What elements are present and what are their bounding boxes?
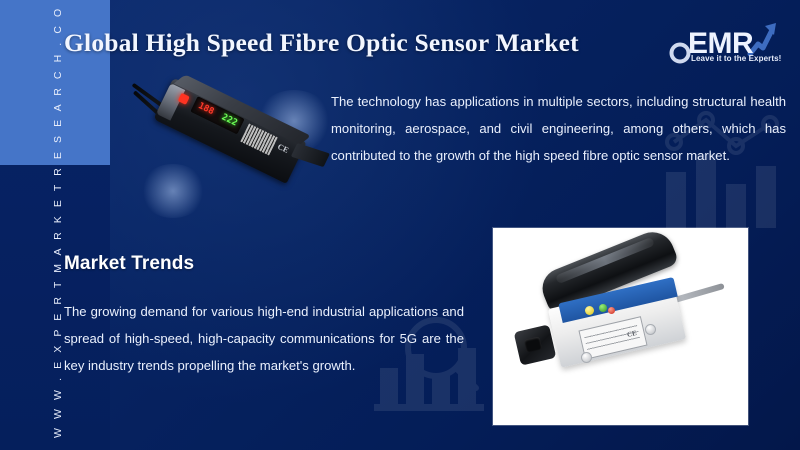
section-heading: Market Trends — [64, 253, 194, 275]
sensor-mounting-screw — [581, 352, 592, 363]
svg-text:Leave it to the Experts!: Leave it to the Experts! — [691, 54, 781, 63]
sensor-led-red — [608, 307, 615, 314]
page-title: Global High Speed Fibre Optic Sensor Mar… — [64, 28, 664, 58]
growth-arrow-icon — [750, 23, 776, 54]
bottom-product-panel: CE — [493, 228, 748, 425]
logo-ring-icon — [672, 45, 689, 62]
emr-logo[interactable]: EMR Leave it to the Experts! — [666, 10, 782, 66]
sensor-tail — [291, 143, 330, 167]
display-green-value: 222 — [220, 113, 239, 128]
poster-canvas: W W W . E X P E R T M A R K E T R E S E … — [0, 0, 800, 450]
display-red-value: 188 — [196, 102, 215, 117]
sensor-output-cable — [673, 283, 725, 303]
intro-paragraph: The technology has applications in multi… — [331, 88, 786, 169]
top-product-image: 188 222 CE — [146, 82, 336, 217]
sensor-led-green — [599, 304, 607, 312]
sensor-led-yellow — [585, 306, 594, 315]
glow-highlight — [140, 164, 206, 218]
sensor-mounting-screw — [645, 324, 656, 335]
white-fibre-sensor-graphic: CE — [493, 228, 748, 425]
trends-paragraph: The growing demand for various high-end … — [64, 298, 464, 379]
